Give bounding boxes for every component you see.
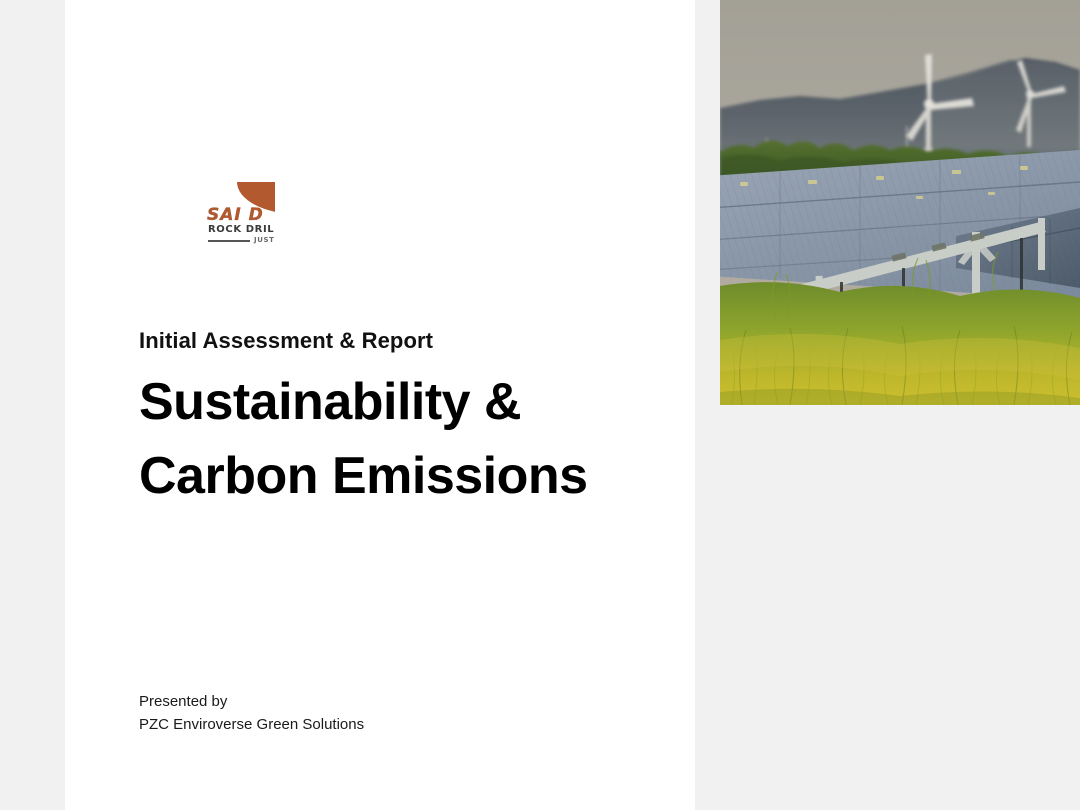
logo-tagline: JUST [254,237,275,244]
slide-title: Sustainability & Carbon Emissions [139,366,679,514]
logo-tagline-row: JUST [208,237,275,244]
presented-by-label: Presented by [139,690,559,713]
logo-rule-divider [208,240,250,242]
presented-by-block: Presented by PZC Enviroverse Green Solut… [139,690,559,737]
presenter-name: PZC Enviroverse Green Solutions [139,713,559,736]
title-block: Initial Assessment & Report Sustainabili… [139,328,679,514]
slide-canvas: SAI D ROCK DRILL JUST Initial Assessment… [65,0,695,810]
cover-photo [720,0,1080,405]
solar-wind-photo-illustration [720,0,1080,405]
company-logo: SAI D ROCK DRILL JUST [207,182,275,244]
slide-eyebrow: Initial Assessment & Report [139,328,679,354]
logo-wordmark: SAI D [207,207,264,224]
logo-inner: SAI D ROCK DRILL JUST [207,182,275,244]
logo-subline: ROCK DRILL [208,225,275,235]
